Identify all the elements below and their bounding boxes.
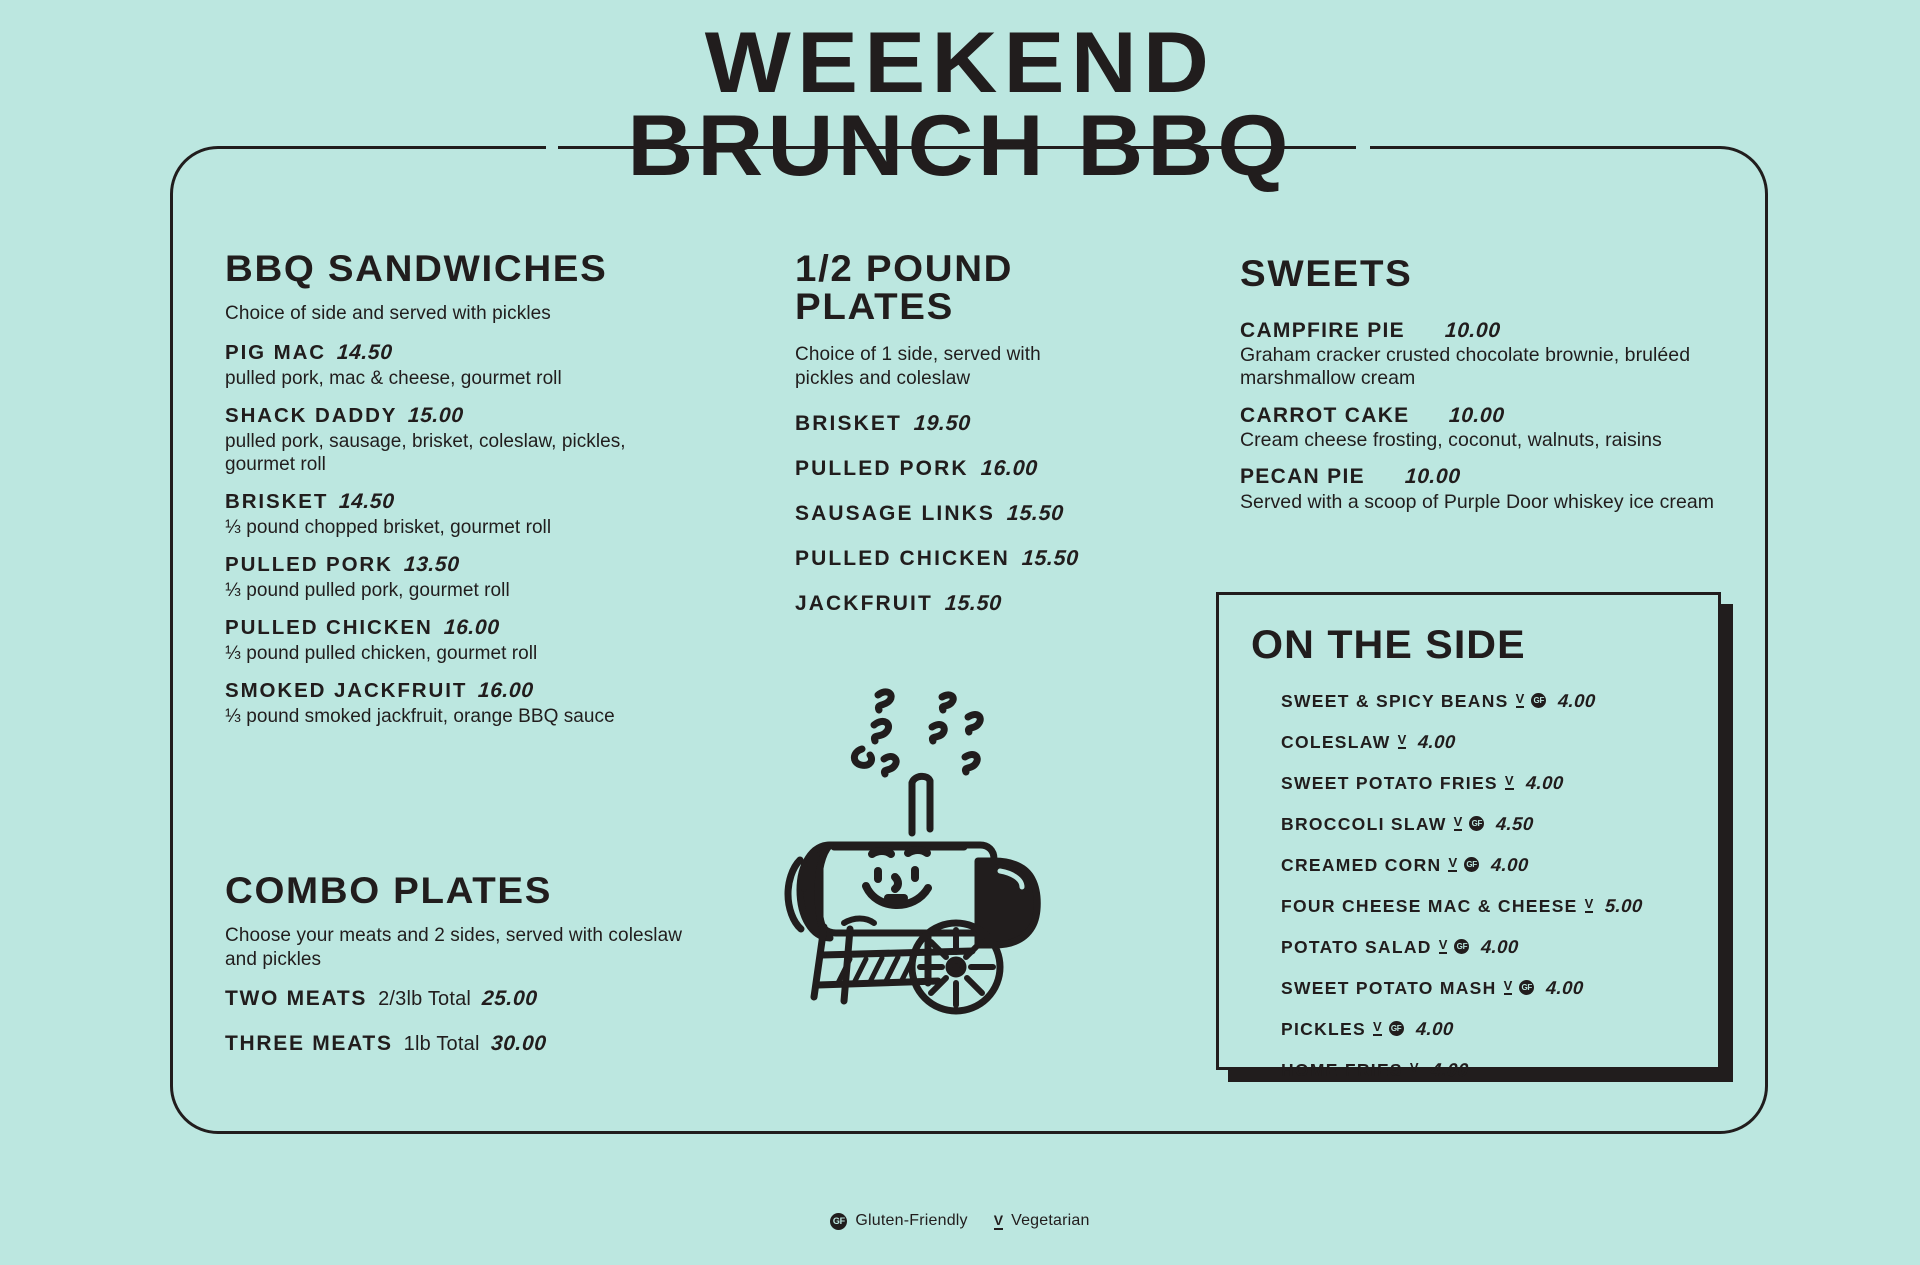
menu-item[interactable]: PULLED CHICKEN 16.00 ⅓ pound pulled chic… [225, 616, 695, 665]
item-price: 15.00 [408, 404, 465, 428]
item-qualifier: 1lb Total [404, 1033, 480, 1056]
menu-item[interactable]: SMOKED JACKFRUIT 16.00 ⅓ pound smoked ja… [225, 679, 695, 728]
list-item[interactable]: SWEET & SPICY BEANS V GF 4.00 [1281, 690, 1718, 712]
combo-note: Choose your meats and 2 sides, served wi… [225, 924, 695, 972]
item-description: ⅓ pound smoked jackfruit, orange BBQ sau… [225, 705, 695, 728]
side-item-name: SWEET POTATO MASH [1281, 978, 1497, 999]
gluten-friendly-icon: GF [1454, 939, 1469, 954]
item-price: 15.50 [944, 591, 1003, 616]
menu-item[interactable]: PECAN PIE 10.00 Served with a scoop of P… [1240, 465, 1770, 514]
plates-heading-line-2: PLATES [795, 288, 1107, 326]
legend-vegetarian: V Vegetarian [994, 1212, 1090, 1230]
item-price: 16.00 [980, 456, 1039, 481]
item-price: 14.50 [336, 341, 393, 365]
menu-item[interactable]: PIG MAC 14.50 pulled pork, mac & cheese,… [225, 341, 695, 390]
item-name: JACKFRUIT [795, 592, 933, 616]
sandwiches-note: Choice of side and served with pickles [225, 302, 695, 326]
item-name: PULLED PORK [795, 457, 969, 481]
side-item-name: BROCCOLI SLAW [1281, 814, 1447, 835]
side-item-price: 4.50 [1496, 813, 1535, 835]
gluten-friendly-icon: GF [1469, 816, 1484, 831]
dietary-legend: GF Gluten-Friendly V Vegetarian [0, 1212, 1920, 1230]
sandwiches-list: PIG MAC 14.50 pulled pork, mac & cheese,… [225, 341, 695, 729]
frame-gap-right [1356, 138, 1370, 158]
item-name: PECAN PIE [1240, 465, 1365, 489]
side-item-price: 4.00 [1525, 772, 1564, 794]
side-item-name: CREAMED CORN [1281, 855, 1441, 876]
side-item-price: 5.00 [1605, 895, 1644, 917]
item-description: Cream cheese frosting, coconut, walnuts,… [1240, 429, 1770, 452]
item-name: PIG MAC [225, 342, 326, 365]
menu-item[interactable]: BRISKET 19.50 [795, 411, 1095, 436]
list-item[interactable]: HOME FRIES V 4.00 [1281, 1059, 1718, 1081]
item-name: TWO MEATS [225, 987, 367, 1011]
vegetarian-icon: V [1398, 733, 1407, 749]
item-price: 16.00 [477, 679, 534, 703]
menu-item[interactable]: CAMPFIRE PIE 10.00 Graham cracker cruste… [1240, 319, 1770, 391]
side-item-name: SWEET POTATO FRIES [1281, 773, 1498, 794]
item-price: 10.00 [1449, 404, 1506, 428]
menu-item[interactable]: BRISKET 14.50 ⅓ pound chopped brisket, g… [225, 490, 695, 539]
item-description: ⅓ pound chopped brisket, gourmet roll [225, 516, 695, 539]
combo-list: TWO MEATS 2/3lb Total 25.00 THREE MEATS … [225, 987, 695, 1056]
list-item[interactable]: SWEET POTATO MASH V GF 4.00 [1281, 977, 1718, 999]
side-item-name: FOUR CHEESE MAC & CHEESE [1281, 896, 1578, 917]
vegetarian-icon: V [1454, 815, 1463, 831]
item-name: SHACK DADDY [225, 405, 397, 428]
sandwiches-heading: BBQ SANDWICHES [225, 250, 714, 288]
section-half-pound-plates: 1/2 POUND PLATES Choice of 1 side, serve… [795, 250, 1095, 636]
item-name: PULLED CHICKEN [795, 547, 1010, 571]
item-name: PULLED PORK [225, 554, 393, 577]
gluten-friendly-icon: GF [1519, 980, 1534, 995]
section-bbq-sandwiches: BBQ SANDWICHES Choice of side and served… [225, 250, 695, 743]
list-item[interactable]: BROCCOLI SLAW V GF 4.50 [1281, 813, 1718, 835]
gluten-friendly-icon: GF [830, 1213, 847, 1230]
side-item-price: 4.00 [1417, 731, 1456, 753]
vegetarian-icon: V [994, 1213, 1003, 1230]
item-price: 14.50 [338, 490, 395, 514]
item-description: pulled pork, mac & cheese, gourmet roll [225, 367, 695, 390]
side-item-name: SWEET & SPICY BEANS [1281, 691, 1509, 712]
plates-heading-line-1: 1/2 POUND [795, 250, 1107, 288]
vegetarian-icon: V [1373, 1020, 1382, 1036]
frame-gap-left [546, 138, 558, 158]
list-item[interactable]: POTATO SALAD V GF 4.00 [1281, 936, 1718, 958]
side-item-price: 4.00 [1558, 690, 1597, 712]
item-price: 15.50 [1006, 501, 1065, 526]
vegetarian-icon: V [1505, 774, 1514, 790]
vegetarian-icon: V [1516, 692, 1525, 708]
section-combo-plates: COMBO PLATES Choose your meats and 2 sid… [225, 872, 695, 1077]
item-price: 10.00 [1404, 465, 1461, 489]
vegetarian-icon: V [1504, 979, 1513, 995]
item-description: Served with a scoop of Purple Door whisk… [1240, 491, 1770, 514]
item-description: Graham cracker crusted chocolate brownie… [1240, 344, 1770, 390]
gluten-friendly-icon: GF [1464, 857, 1479, 872]
item-description: ⅓ pound pulled pork, gourmet roll [225, 579, 695, 602]
side-item-price: 4.00 [1545, 977, 1584, 999]
bbq-smoker-illustration [760, 655, 1060, 1025]
vegetarian-icon: V [1585, 897, 1594, 913]
item-name: PULLED CHICKEN [225, 617, 433, 640]
vegetarian-icon: V [1448, 856, 1457, 872]
gluten-friendly-icon: GF [1531, 693, 1546, 708]
item-qualifier: 2/3lb Total [378, 988, 471, 1011]
item-price: 16.00 [443, 616, 500, 640]
side-item-name: COLESLAW [1281, 732, 1391, 753]
list-item[interactable]: PICKLES V GF 4.00 [1281, 1018, 1718, 1040]
vegetarian-icon: V [1410, 1061, 1419, 1077]
item-name: CAMPFIRE PIE [1240, 319, 1405, 343]
menu-item[interactable]: SAUSAGE LINKS 15.50 [795, 501, 1095, 526]
item-price: 13.50 [403, 553, 460, 577]
item-name: SAUSAGE LINKS [795, 502, 995, 526]
item-price: 30.00 [490, 1032, 547, 1056]
item-price: 19.50 [913, 411, 972, 436]
plates-heading: 1/2 POUND PLATES [795, 250, 1107, 325]
gluten-friendly-icon: GF [1389, 1021, 1404, 1036]
item-name: SMOKED JACKFRUIT [225, 680, 467, 703]
plates-note: Choice of 1 side, served with pickles an… [795, 343, 1095, 391]
side-item-name: PICKLES [1281, 1019, 1366, 1040]
item-description: ⅓ pound pulled chicken, gourmet roll [225, 642, 695, 665]
legend-gluten-friendly-label: Gluten-Friendly [855, 1212, 967, 1230]
legend-gluten-friendly: GF Gluten-Friendly [830, 1212, 967, 1230]
side-item-price: 4.00 [1481, 936, 1520, 958]
side-items-list: SWEET & SPICY BEANS V GF 4.00 COLESLAW V… [1251, 690, 1718, 1081]
sweets-list: CAMPFIRE PIE 10.00 Graham cracker cruste… [1240, 319, 1770, 514]
menu-item[interactable]: THREE MEATS 1lb Total 30.00 [225, 1032, 695, 1056]
item-name: CARROT CAKE [1240, 404, 1409, 428]
list-item[interactable]: FOUR CHEESE MAC & CHEESE V 5.00 [1281, 895, 1718, 917]
sweets-heading: SWEETS [1240, 255, 1791, 293]
plates-list: BRISKET 19.50 PULLED PORK 16.00 SAUSAGE … [795, 411, 1095, 616]
menu-item[interactable]: SHACK DADDY 15.00 pulled pork, sausage, … [225, 404, 695, 476]
side-item-price: 4.00 [1430, 1059, 1469, 1081]
item-name: BRISKET [225, 491, 328, 514]
menu-item[interactable]: CARROT CAKE 10.00 Cream cheese frosting,… [1240, 404, 1770, 453]
menu-item[interactable]: JACKFRUIT 15.50 [795, 591, 1095, 616]
side-item-name: POTATO SALAD [1281, 937, 1432, 958]
item-price: 10.00 [1444, 319, 1501, 343]
side-item-price: 4.00 [1415, 1018, 1454, 1040]
list-item[interactable]: CREAMED CORN V GF 4.00 [1281, 854, 1718, 876]
item-price: 15.50 [1021, 546, 1080, 571]
title-line-1: WEEKEND [0, 22, 1920, 105]
section-sweets: SWEETS CAMPFIRE PIE 10.00 Graham cracker… [1240, 255, 1770, 527]
section-on-the-side: ON THE SIDE SWEET & SPICY BEANS V GF 4.0… [1216, 592, 1721, 1070]
item-name: BRISKET [795, 412, 902, 436]
side-item-name: HOME FRIES [1281, 1060, 1403, 1081]
item-price: 25.00 [481, 987, 538, 1011]
menu-item[interactable]: PULLED CHICKEN 15.50 [795, 546, 1095, 571]
menu-item[interactable]: TWO MEATS 2/3lb Total 25.00 [225, 987, 695, 1011]
list-item[interactable]: COLESLAW V 4.00 [1281, 731, 1718, 753]
combo-heading: COMBO PLATES [225, 872, 714, 910]
item-name: THREE MEATS [225, 1032, 393, 1056]
side-item-price: 4.00 [1490, 854, 1529, 876]
list-item[interactable]: SWEET POTATO FRIES V 4.00 [1281, 772, 1718, 794]
vegetarian-icon: V [1439, 938, 1448, 954]
menu-item[interactable]: PULLED PORK 13.50 ⅓ pound pulled pork, g… [225, 553, 695, 602]
item-description: pulled pork, sausage, brisket, coleslaw,… [225, 430, 695, 476]
menu-item[interactable]: PULLED PORK 16.00 [795, 456, 1095, 481]
on-the-side-heading: ON THE SIDE [1251, 623, 1732, 668]
legend-vegetarian-label: Vegetarian [1011, 1212, 1090, 1230]
